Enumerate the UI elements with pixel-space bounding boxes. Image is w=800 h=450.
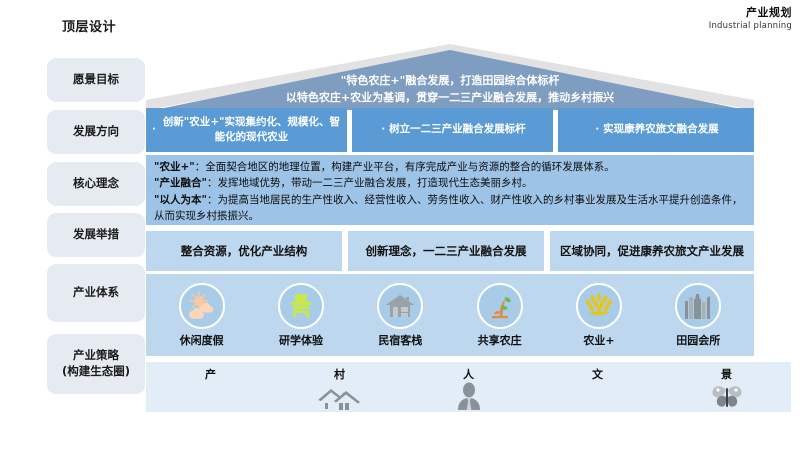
measure-cell-1[interactable]: 整合资源，优化产业结构: [146, 231, 342, 271]
industry-item-leisure[interactable]: 休闲度假: [152, 283, 251, 348]
buildings-icon: [675, 283, 721, 329]
strategy-item-chan-label: 产: [205, 366, 216, 382]
butterfly-icon: [707, 382, 747, 412]
strategy-item-jing-label: 景: [721, 366, 732, 382]
brand-block: 产业规划 Industrial planning: [709, 4, 792, 31]
direction-cell-1-label: 创新"农业+"实现集约化、规模化、智能化的现代农业: [160, 115, 343, 145]
roof-line-1: "特色农庄+"融合发展，打造田园综合体标杆: [146, 73, 754, 90]
industry-item-homestay-label: 民宿客栈: [378, 332, 422, 348]
industry-item-leisure-label: 休闲度假: [180, 332, 224, 348]
direction-cell-3[interactable]: · 实现康养农旅文融合发展: [558, 108, 754, 152]
direction-cell-3-label: 实现康养农旅文融合发展: [603, 122, 719, 137]
core-concept-text-3: ：为提高当地居民的生产性收入、经营性收入、劳务性收入、财产性收入的乡村事业发展及…: [154, 194, 742, 222]
rail-item-measures[interactable]: 发展举措: [47, 213, 145, 257]
industry-item-sharedfarm[interactable]: 共享农庄: [450, 283, 549, 348]
core-concept-text-2: ：发挥地域优势，带动一二三产业融合发展，打造现代生态美丽乡村。: [207, 177, 533, 189]
core-concept-panel: "农业+"：全面契合地区的地理位置，构建产业平台，有序完成产业与资源的整合的循环…: [146, 155, 754, 225]
rail-item-strategy-line1: 产业策略: [62, 348, 130, 364]
measure-cell-3[interactable]: 区域协同，促进康养农旅文产业发展: [550, 231, 754, 271]
direction-cell-1[interactable]: · 创新"农业+"实现集约化、规模化、智能化的现代农业: [146, 108, 347, 152]
industry-item-homestay[interactable]: 民宿客栈: [351, 283, 450, 348]
industry-item-study-label: 研学体验: [279, 332, 323, 348]
strategy-item-cun[interactable]: 村: [275, 362, 404, 412]
roof-house-icon: [316, 382, 364, 412]
page-title: 顶层设计: [62, 16, 116, 35]
direction-cell-2[interactable]: · 树立一二三产业融合发展标杆: [352, 108, 553, 152]
core-concept-term-2: "产业融合": [154, 177, 207, 189]
measures-row: 整合资源，优化产业结构 创新理念，一二三产业融合发展 区域协同，促进康养农旅文产…: [146, 231, 754, 271]
core-concept-line-3: "以人为本"：为提高当地居民的生产性收入、经营性收入、劳务性收入、财产性收入的乡…: [154, 192, 748, 225]
desk-icon: [278, 283, 324, 329]
slide-canvas: 顶层设计 产业规划 Industrial planning 愿景目标 发展方向 …: [0, 0, 800, 450]
strategy-item-chan[interactable]: 产: [146, 362, 275, 412]
wheat-icon: [576, 283, 622, 329]
core-concept-term-1: "农业+": [154, 161, 195, 173]
industry-item-sharedfarm-label: 共享农庄: [478, 332, 522, 348]
roof-banner: "特色农庄+"融合发展，打造田园综合体标杆 以特色农庄+农业为基调，贯穿一二三产…: [146, 44, 754, 110]
industry-system-row: 休闲度假 研学体验: [146, 274, 754, 356]
bullet-icon: ·: [152, 125, 156, 135]
house-icon: [377, 283, 423, 329]
rail-item-industry-system[interactable]: 产业体系: [47, 264, 145, 322]
left-rail: 愿景目标 发展方向 核心理念 发展举措 产业体系 产业策略 (构建生态圈): [47, 58, 145, 394]
brand-title-cn: 产业规划: [709, 4, 792, 20]
rail-item-core-concept[interactable]: 核心理念: [47, 162, 145, 206]
industry-item-clubhouse[interactable]: 田园会所: [649, 283, 748, 348]
strategy-item-ren[interactable]: 人: [404, 362, 533, 412]
direction-row: · 创新"农业+"实现集约化、规模化、智能化的现代农业 · 树立一二三产业融合发…: [146, 108, 754, 152]
brand-title-en: Industrial planning: [709, 21, 792, 31]
industry-item-agriplus[interactable]: 农业+: [549, 283, 648, 348]
core-concept-term-3: "以人为本": [154, 194, 207, 206]
person-icon: [452, 382, 486, 412]
core-concept-text-1: ：全面契合地区的地理位置，构建产业平台，有序完成产业与资源的整合的循环发展体系。: [195, 161, 615, 173]
strategy-row: 产 村 人: [146, 362, 791, 412]
bullet-icon: ·: [595, 125, 599, 135]
rail-item-strategy[interactable]: 产业策略 (构建生态圈): [47, 334, 145, 394]
industry-item-clubhouse-label: 田园会所: [676, 332, 720, 348]
core-concept-line-1: "农业+"：全面契合地区的地理位置，构建产业平台，有序完成产业与资源的整合的循环…: [154, 159, 748, 175]
strategy-item-wen[interactable]: 文: [533, 362, 662, 412]
rail-item-strategy-line2: (构建生态圈): [62, 364, 130, 380]
industry-item-study[interactable]: 研学体验: [251, 283, 350, 348]
sprout-icon: [477, 283, 523, 329]
strategy-item-wen-label: 文: [592, 366, 603, 382]
rail-item-direction[interactable]: 发展方向: [47, 110, 145, 154]
strategy-item-jing[interactable]: 景: [662, 362, 791, 412]
industry-item-agriplus-label: 农业+: [583, 332, 614, 348]
rail-item-vision[interactable]: 愿景目标: [47, 58, 145, 102]
strategy-item-ren-label: 人: [463, 366, 474, 382]
bullet-icon: ·: [381, 125, 385, 135]
measure-cell-2[interactable]: 创新理念，一二三产业融合发展: [348, 231, 544, 271]
roof-line-2: 以特色农庄+农业为基调，贯穿一二三产业融合发展，推动乡村振兴: [146, 90, 754, 107]
core-concept-line-2: "产业融合"：发挥地域优势，带动一二三产业融合发展，打造现代生态美丽乡村。: [154, 175, 748, 191]
strategy-item-cun-label: 村: [334, 366, 345, 382]
sun-cloud-icon: [179, 283, 225, 329]
roof-text: "特色农庄+"融合发展，打造田园综合体标杆 以特色农庄+农业为基调，贯穿一二三产…: [146, 73, 754, 106]
direction-cell-2-label: 树立一二三产业融合发展标杆: [389, 122, 526, 137]
